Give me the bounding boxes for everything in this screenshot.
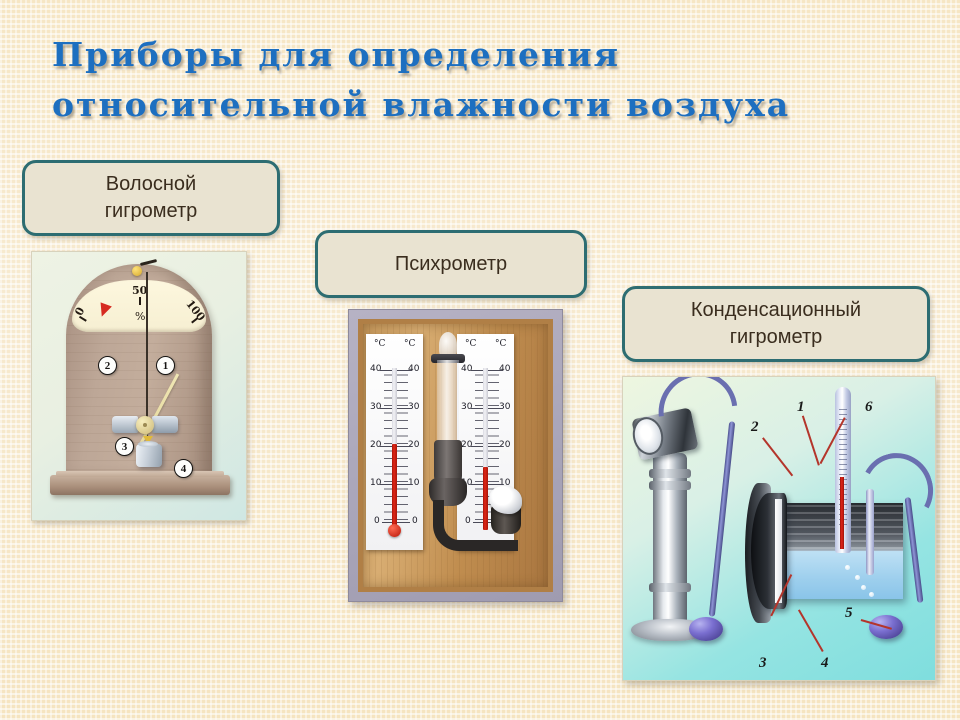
- bubble: [845, 565, 850, 570]
- callout-6: 6: [865, 399, 873, 416]
- tick-label-20-right: 20: [408, 440, 419, 450]
- tick-label-40-left: 40: [461, 364, 472, 374]
- label-condensation-hygrometer-text: Конденсационный гигрометр: [691, 297, 861, 351]
- counterweight: [136, 444, 162, 467]
- leader-1: [802, 416, 820, 466]
- stand-collar: [649, 481, 691, 490]
- adjust-screw: [132, 266, 142, 276]
- mercury-column: [392, 444, 397, 530]
- tick-label-20-right: 20: [499, 440, 510, 450]
- callout-1: 1: [797, 399, 805, 416]
- unit-label-left: °C: [374, 339, 385, 349]
- rubber-bulb-pump-left: [689, 617, 723, 641]
- pulley-axle: [136, 416, 154, 434]
- unit-label-left: °C: [465, 339, 476, 349]
- bubble: [861, 585, 866, 590]
- reservoir-neck: [437, 360, 459, 446]
- callout-3: 3: [759, 655, 767, 672]
- bubble: [869, 592, 874, 597]
- label-psychrometer-text: Психрометр: [395, 251, 507, 278]
- callout-4: 4: [821, 655, 829, 672]
- callout-1: 1: [156, 356, 175, 375]
- page-title: Приборы для определения относительной вл…: [52, 30, 912, 130]
- tick-label-0-left: 0: [374, 516, 380, 526]
- scale-unit-percent: %: [135, 310, 145, 323]
- tick-label-30-left: 30: [370, 402, 381, 412]
- image-hair-hygrometer: 0 50 100 % 2 1 3 4: [31, 251, 247, 521]
- image-psychrometer: °C °C 40 40 30 30 20 20 10 10 0 0 °C °C: [348, 309, 563, 602]
- tick-label-30-left: 30: [461, 402, 472, 412]
- slide-canvas: Приборы для определения относительной вл…: [0, 0, 960, 720]
- bracket-right: [152, 416, 178, 433]
- leader-2: [762, 437, 793, 476]
- label-hair-hygrometer[interactable]: Волосной гигрометр: [22, 160, 280, 236]
- tick-label-30-right: 30: [408, 402, 419, 412]
- bracket-left: [112, 416, 138, 433]
- hygrometer-base: [50, 475, 230, 495]
- tick-label-20-left: 20: [461, 440, 472, 450]
- bulb: [388, 524, 401, 537]
- image-condensation-hygrometer: 2 1 6 3 4 5: [622, 376, 936, 681]
- callout-4: 4: [174, 459, 193, 478]
- thermometer-dry-bulb: °C °C 40 40 30 30 20 20 10 10 0 0: [366, 334, 423, 550]
- tick-label-40-left: 40: [370, 364, 381, 374]
- label-psychrometer[interactable]: Психрометр: [315, 230, 587, 298]
- stand-collar: [649, 583, 691, 592]
- stand-column: [653, 453, 687, 633]
- tick-label-10-right: 10: [408, 478, 419, 488]
- callout-2: 2: [751, 419, 759, 436]
- label-condensation-hygrometer[interactable]: Конденсационный гигрометр: [622, 286, 930, 362]
- tick-label-10-left: 10: [370, 478, 381, 488]
- scale-tick-mid: [139, 297, 141, 305]
- hair-strand: [146, 272, 148, 437]
- tick-label-20-left: 20: [370, 440, 381, 450]
- mirror-rim: [775, 499, 782, 603]
- tick-label-40-right: 40: [499, 364, 510, 374]
- label-hair-hygrometer-text: Волосной гигрометр: [105, 171, 198, 225]
- leader-4: [798, 609, 823, 651]
- tick-label-0-right: 0: [412, 516, 418, 526]
- stand-collar: [649, 469, 691, 478]
- unit-label-right: °C: [404, 339, 415, 349]
- tick-label-40-right: 40: [408, 364, 419, 374]
- tick-label-30-right: 30: [499, 402, 510, 412]
- thermometer-mercury: [840, 477, 844, 549]
- bubble: [855, 575, 860, 580]
- callout-5: 5: [845, 605, 853, 622]
- callout-2: 2: [98, 356, 117, 375]
- rubber-hose-left-run: [709, 421, 735, 617]
- unit-label-right: °C: [495, 339, 506, 349]
- callout-3: 3: [115, 437, 134, 456]
- ether-liquid: [773, 551, 903, 599]
